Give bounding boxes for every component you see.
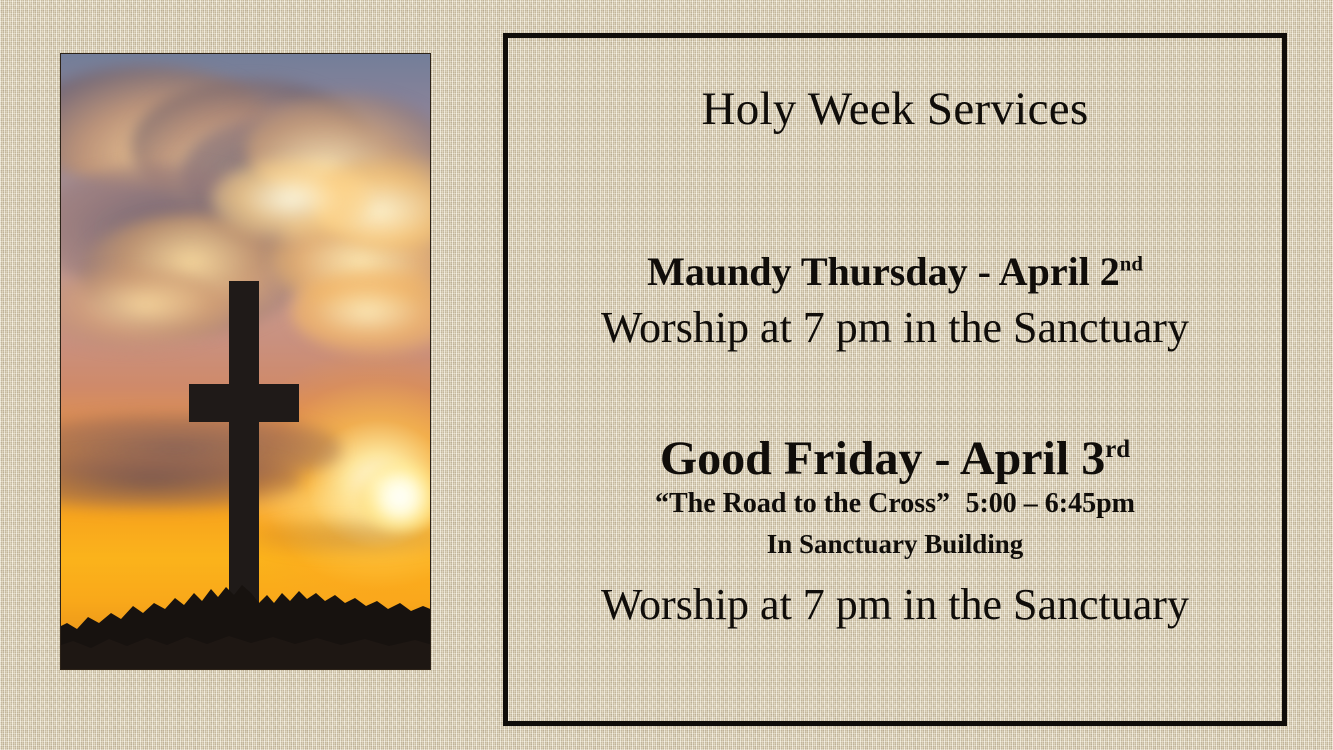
good-friday-event-location: In Sanctuary Building <box>508 531 1282 558</box>
page-title: Holy Week Services <box>508 86 1282 133</box>
good-friday-event-title: “The Road to the Cross” <box>655 488 950 519</box>
good-friday-heading: Good Friday - April 3rd <box>508 435 1282 483</box>
maundy-thursday-ordinal: nd <box>1120 253 1143 276</box>
slide-canvas: Holy Week Services Maundy Thursday - Apr… <box>0 0 1333 750</box>
maundy-thursday-heading-text: Maundy Thursday - April 2 <box>647 249 1120 294</box>
good-friday-detail: Worship at 7 pm in the Sanctuary <box>508 583 1282 627</box>
panel-body: Holy Week Services Maundy Thursday - Apr… <box>508 38 1282 721</box>
announcement-panel: Holy Week Services Maundy Thursday - Apr… <box>503 33 1287 726</box>
cross-horizontal-beam <box>189 384 299 422</box>
maundy-thursday-heading: Maundy Thursday - April 2nd <box>508 252 1282 292</box>
good-friday-event-line: “The Road to the Cross”5:00 – 6:45pm <box>508 490 1282 518</box>
cross-at-sunset-photo <box>60 53 431 670</box>
good-friday-ordinal: rd <box>1105 436 1130 463</box>
maundy-thursday-detail: Worship at 7 pm in the Sanctuary <box>508 306 1282 350</box>
rocky-ground-silhouette <box>61 543 430 669</box>
cloud-shape <box>211 159 371 239</box>
good-friday-event-time: 5:00 – 6:45pm <box>965 488 1135 519</box>
good-friday-heading-text: Good Friday - April 3 <box>660 432 1105 485</box>
photo-inner <box>61 54 430 669</box>
